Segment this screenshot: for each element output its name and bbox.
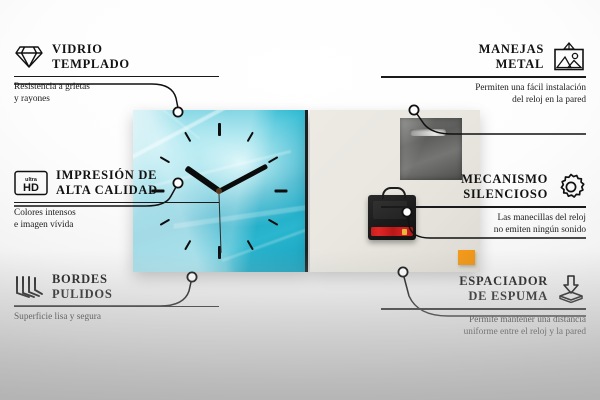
feature-bordes-pulidos: BORDES PULIDOS Superficie lisa y segura bbox=[14, 272, 219, 323]
feature-divider bbox=[14, 76, 219, 78]
gear-icon bbox=[556, 172, 586, 202]
clock-tick bbox=[184, 132, 191, 143]
feature-divider bbox=[381, 76, 586, 78]
clock-tick bbox=[274, 190, 287, 193]
feature-divider bbox=[14, 202, 219, 204]
feature-desc-line2: e imagen vívida bbox=[14, 219, 219, 231]
feature-title-line2: TEMPLADO bbox=[52, 57, 130, 72]
clock-tick bbox=[218, 123, 221, 136]
feature-desc-line1: Permite mantener una distancia bbox=[381, 314, 586, 326]
feature-title-line1: IMPRESIÓN DE bbox=[56, 168, 158, 183]
picture-frame-hanger-icon bbox=[552, 42, 586, 72]
feature-divider bbox=[381, 206, 586, 208]
ultra-hd-icon: ultra HD bbox=[14, 170, 48, 196]
feature-title-line2: DE ESPUMA bbox=[459, 289, 548, 304]
feature-desc-line1: Las manecillas del reloj bbox=[381, 212, 586, 224]
feature-espaciador-espuma: ESPACIADOR DE ESPUMA Permite mantener un… bbox=[381, 274, 586, 338]
feature-title-line1: BORDES bbox=[52, 272, 112, 287]
infographic-canvas: VIDRIO TEMPLADO Resistencia a grietas y … bbox=[0, 0, 600, 400]
ultra-hd-icon-large-label: HD bbox=[23, 182, 39, 194]
feature-desc-line2: no emiten ningún sonido bbox=[381, 224, 586, 236]
hanger-slot bbox=[410, 129, 446, 136]
feature-title-line2: ALTA CALIDAD bbox=[56, 183, 158, 198]
feature-desc-line1: Permiten una fácil instalación bbox=[381, 82, 586, 94]
feature-desc-line2: del reloj en la pared bbox=[381, 94, 586, 106]
feature-mecanismo-silencioso: MECANISMO SILENCIOSO Las manecillas del … bbox=[381, 172, 586, 236]
feature-title-line2: PULIDOS bbox=[52, 287, 112, 302]
feature-desc-line1: Resistencia a grietas bbox=[14, 81, 219, 93]
feature-vidrio-templado: VIDRIO TEMPLADO Resistencia a grietas y … bbox=[14, 42, 219, 105]
feature-desc-line1: Colores intensos bbox=[14, 207, 219, 219]
feature-desc-line2: uniforme entre el reloj y la pared bbox=[381, 326, 586, 338]
feature-title-line1: MANEJAS bbox=[479, 42, 544, 57]
feature-impresion-alta-calidad: ultra HD IMPRESIÓN DE ALTA CALIDAD Color… bbox=[14, 168, 219, 231]
feature-title-line2: SILENCIOSO bbox=[461, 187, 548, 202]
feature-title-line1: MECANISMO bbox=[461, 172, 548, 187]
clock-tick bbox=[267, 219, 278, 226]
foam-spacer-arrow-icon bbox=[556, 274, 586, 304]
metal-hanger-plate bbox=[400, 118, 462, 180]
feature-manejas-metal: MANEJAS METAL Permiten una fácil instala… bbox=[381, 42, 586, 106]
clock-tick bbox=[159, 156, 170, 163]
clock-tick bbox=[246, 132, 253, 143]
diamond-icon bbox=[14, 44, 44, 70]
feature-desc-line1: Superficie lisa y segura bbox=[14, 311, 219, 323]
foam-spacer bbox=[458, 250, 475, 265]
polished-edges-icon bbox=[14, 274, 44, 300]
clock-tick bbox=[184, 240, 191, 251]
feature-title-line2: METAL bbox=[479, 57, 544, 72]
feature-desc-line2: y rayones bbox=[14, 93, 219, 105]
feature-divider bbox=[381, 308, 586, 310]
feature-divider bbox=[14, 306, 219, 308]
feature-title-line1: ESPACIADOR bbox=[459, 274, 548, 289]
feature-title-line1: VIDRIO bbox=[52, 42, 130, 57]
